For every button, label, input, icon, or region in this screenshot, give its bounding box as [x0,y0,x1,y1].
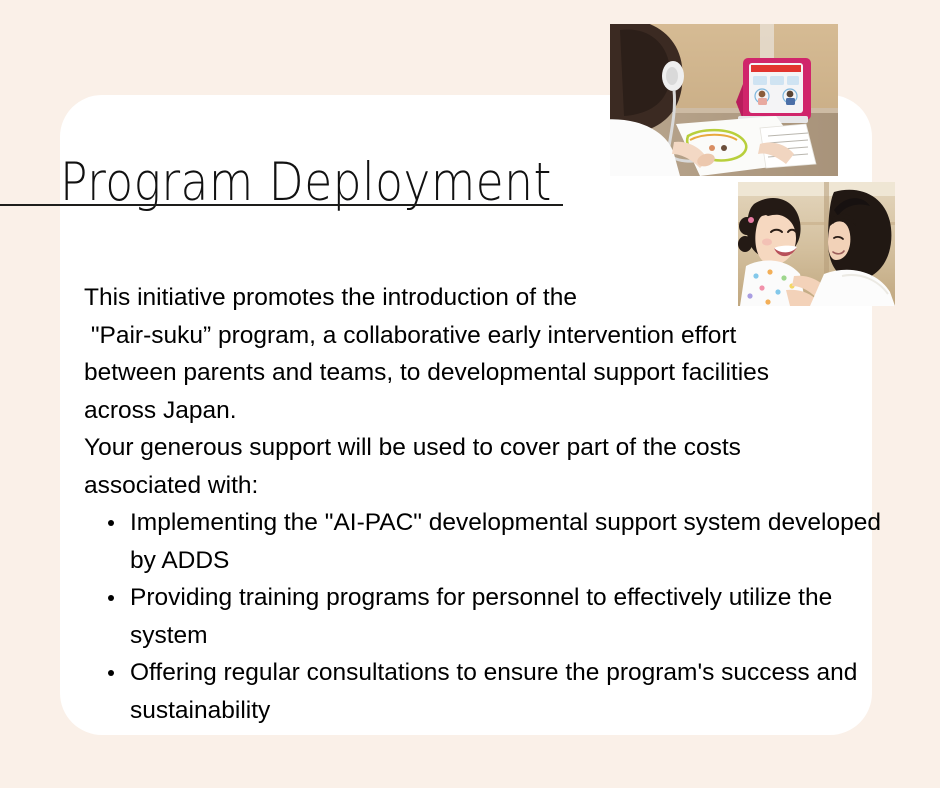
bullet-dot-icon [108,520,114,526]
slide-canvas: Program Deployment This initiative promo… [0,0,940,788]
photo-pair [738,182,895,306]
title-divider [0,204,563,206]
list-item-label: Implementing the "AI-PAC" developmental … [130,509,881,574]
body-paragraph-line-3: between parents and teams, to developmen… [84,354,904,392]
list-item: Offering regular consultations to ensure… [84,654,904,729]
bullet-dot-icon [108,595,114,601]
body-paragraph-line-6: associated with: [84,467,904,505]
body-paragraph-line-2: "Pair-suku” program, a collaborative ear… [84,317,904,355]
photo-desk [610,24,838,176]
list-item: Providing training programs for personne… [84,579,904,654]
cost-items-list: Implementing the "AI-PAC" developmental … [84,504,904,729]
list-item-label: Providing training programs for personne… [130,584,832,649]
photo-desk-artwork [610,24,838,176]
body-paragraph-line-4: across Japan. [84,392,904,430]
list-item: Implementing the "AI-PAC" developmental … [84,504,904,579]
photo-pair-artwork [738,182,895,306]
page-title: Program Deployment [60,148,507,218]
list-item-label: Offering regular consultations to ensure… [130,659,857,724]
bullet-dot-icon [108,670,114,676]
body-paragraph-line-5: Your generous support will be used to co… [84,429,904,467]
body-text-block: This initiative promotes the introductio… [84,279,904,729]
